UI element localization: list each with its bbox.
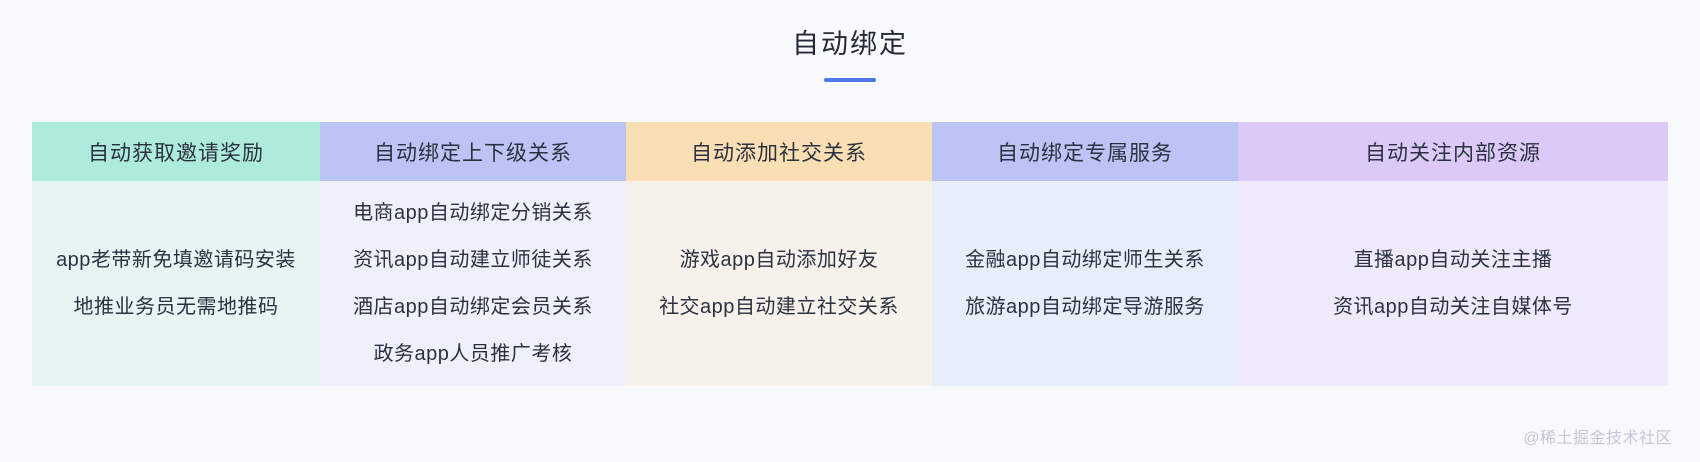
column-header: 自动添加社交关系 <box>626 122 932 181</box>
column-item: app老带新免填邀请码安装 <box>56 248 296 273</box>
column-item: 资讯app自动关注自媒体号 <box>1333 295 1573 320</box>
category-table: 自动获取邀请奖励app老带新免填邀请码安装地推业务员无需地推码自动绑定上下级关系… <box>32 122 1668 386</box>
column-item: 金融app自动绑定师生关系 <box>965 248 1205 273</box>
table-column: 自动绑定上下级关系电商app自动绑定分销关系资讯app自动建立师徒关系酒店app… <box>320 122 626 386</box>
column-header: 自动绑定上下级关系 <box>320 122 626 181</box>
column-body: 金融app自动绑定师生关系旅游app自动绑定导游服务 <box>932 181 1238 386</box>
page-title: 自动绑定 <box>0 28 1700 60</box>
column-item: 游戏app自动添加好友 <box>680 248 879 273</box>
column-header: 自动绑定专属服务 <box>932 122 1238 181</box>
column-item: 直播app自动关注主播 <box>1354 248 1553 273</box>
title-underline-rule <box>824 78 876 82</box>
watermark-label: @稀土掘金技术社区 <box>1523 424 1672 448</box>
column-body: 直播app自动关注主播资讯app自动关注自媒体号 <box>1238 181 1668 386</box>
column-item: 酒店app自动绑定会员关系 <box>353 295 593 320</box>
table-column: 自动关注内部资源直播app自动关注主播资讯app自动关注自媒体号 <box>1238 122 1668 386</box>
column-item: 政务app人员推广考核 <box>374 342 573 367</box>
column-item: 社交app自动建立社交关系 <box>659 295 899 320</box>
column-header: 自动关注内部资源 <box>1238 122 1668 181</box>
infographic-page: 自动绑定 自动获取邀请奖励app老带新免填邀请码安装地推业务员无需地推码自动绑定… <box>0 0 1700 462</box>
table-column: 自动获取邀请奖励app老带新免填邀请码安装地推业务员无需地推码 <box>32 122 320 386</box>
column-body: app老带新免填邀请码安装地推业务员无需地推码 <box>32 181 320 386</box>
column-item: 资讯app自动建立师徒关系 <box>353 248 593 273</box>
title-block: 自动绑定 <box>0 0 1700 82</box>
column-header: 自动获取邀请奖励 <box>32 122 320 181</box>
column-item: 地推业务员无需地推码 <box>74 295 279 320</box>
table-column: 自动添加社交关系游戏app自动添加好友社交app自动建立社交关系 <box>626 122 932 386</box>
column-item: 电商app自动绑定分销关系 <box>353 201 593 226</box>
column-item: 旅游app自动绑定导游服务 <box>965 295 1205 320</box>
table-column: 自动绑定专属服务金融app自动绑定师生关系旅游app自动绑定导游服务 <box>932 122 1238 386</box>
column-body: 游戏app自动添加好友社交app自动建立社交关系 <box>626 181 932 386</box>
column-body: 电商app自动绑定分销关系资讯app自动建立师徒关系酒店app自动绑定会员关系政… <box>320 181 626 386</box>
